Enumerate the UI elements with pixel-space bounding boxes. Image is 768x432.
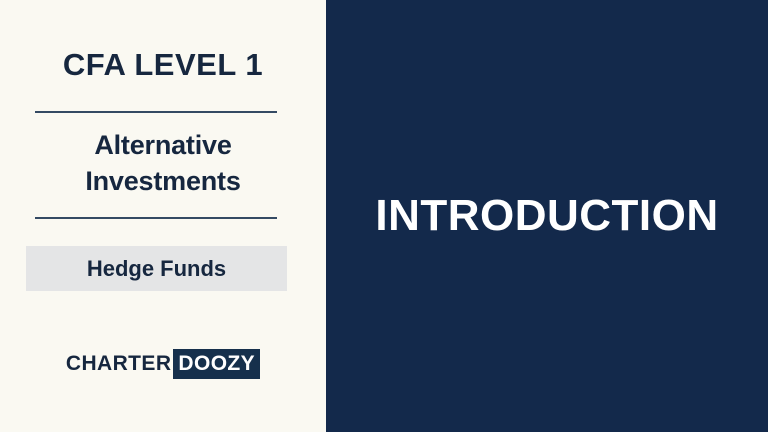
divider-top xyxy=(35,111,277,113)
section-title: INTRODUCTION xyxy=(375,192,718,240)
topic-heading-line-1: Alternative xyxy=(0,128,326,164)
topic-heading-line-2: Investments xyxy=(0,164,326,200)
topic-heading: Alternative Investments xyxy=(0,128,326,200)
title-slide: CFA LEVEL 1 Alternative Investments Hedg… xyxy=(0,0,768,432)
brand-logo-word-doozy: DOOZY xyxy=(173,349,260,379)
subtopic-badge: Hedge Funds xyxy=(26,246,287,291)
brand-logo: CHARTER DOOZY xyxy=(0,349,326,379)
right-title-panel: INTRODUCTION xyxy=(326,0,768,432)
course-level-title: CFA LEVEL 1 xyxy=(0,48,326,82)
left-info-panel: CFA LEVEL 1 Alternative Investments Hedg… xyxy=(0,0,326,432)
brand-logo-word-charter: CHARTER xyxy=(66,349,173,379)
subtopic-label: Hedge Funds xyxy=(87,256,226,282)
divider-bottom xyxy=(35,217,277,219)
